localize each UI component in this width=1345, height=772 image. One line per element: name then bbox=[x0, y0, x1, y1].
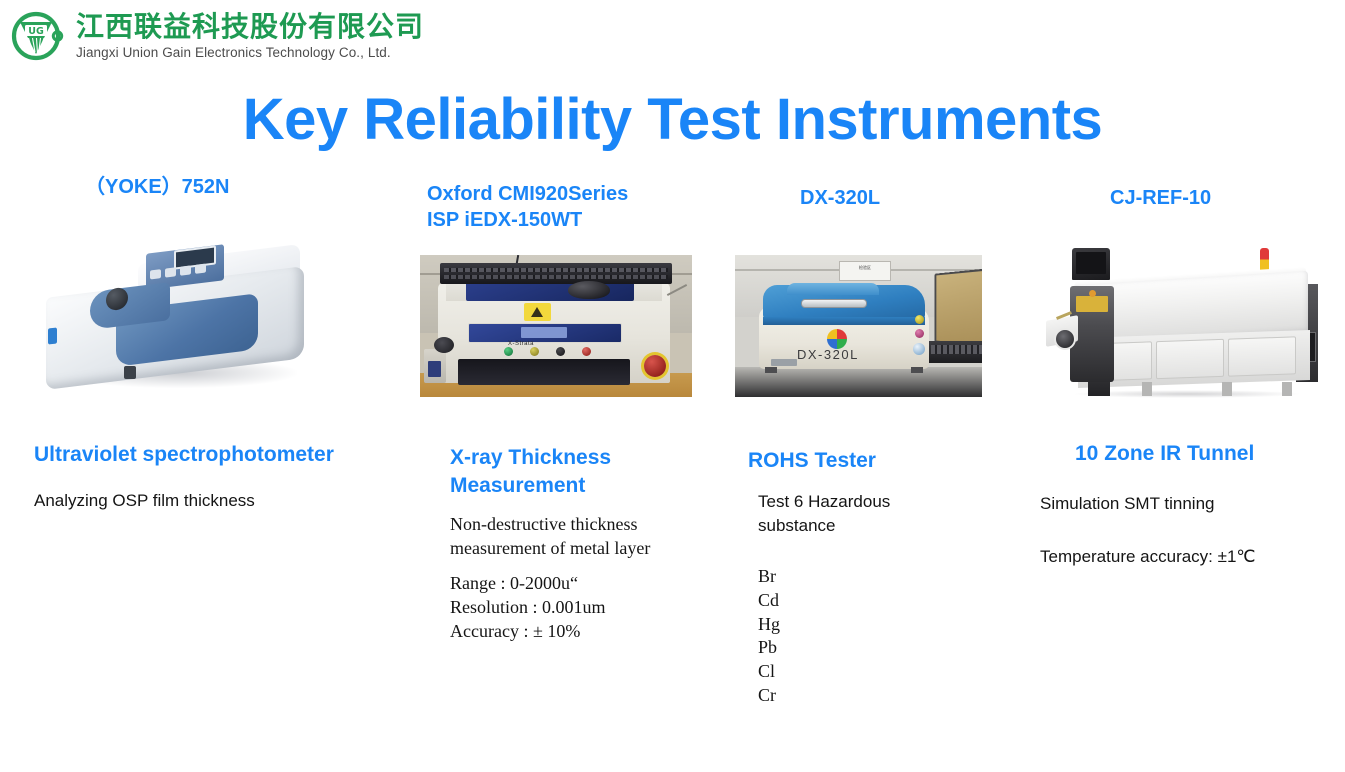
lamp-yellow bbox=[530, 347, 539, 356]
rohs-laptop-screen bbox=[935, 268, 982, 348]
caption-xray: X-ray Thickness Measurement bbox=[450, 444, 611, 499]
model-label-uv: （YOKE）752N bbox=[85, 175, 230, 201]
lamp-red bbox=[582, 347, 591, 356]
model-label-xray: Oxford CMI920Series ISP iEDX-150WT bbox=[427, 182, 628, 233]
body-xray: Non-destructive thickness measurement of… bbox=[450, 512, 700, 561]
rohs-color-logo-icon bbox=[827, 329, 847, 349]
reflow-cabinet-lamp bbox=[1089, 290, 1096, 297]
rohs-foot-left bbox=[765, 367, 777, 373]
rohs-tester-photo: 检验区 DX-320L bbox=[735, 255, 982, 397]
rohs-foot-right bbox=[911, 367, 923, 373]
company-brand: UG 江西联益科技股份有限公司 Jiangxi Union Gain Elect… bbox=[10, 8, 424, 64]
rohs-laptop-base bbox=[927, 341, 982, 363]
xray-mouse bbox=[568, 281, 610, 299]
brand-text: 江西联益科技股份有限公司 Jiangxi Union Gain Electron… bbox=[76, 13, 424, 60]
indicator-amber bbox=[915, 315, 924, 324]
brand-name-cn: 江西联益科技股份有限公司 bbox=[76, 13, 424, 41]
rohs-name-badge bbox=[771, 359, 797, 366]
uv-spectrophotometer-photo bbox=[28, 240, 333, 412]
specs-rohs-substances: Br Cd Hg Pb Cl Cr bbox=[758, 565, 958, 708]
slide-title: Key Reliability Test Instruments bbox=[0, 86, 1345, 153]
lamp-dark bbox=[556, 347, 565, 356]
rohs-power-button bbox=[913, 343, 925, 355]
indicator-pink bbox=[915, 329, 924, 338]
reflow-oven-photo bbox=[1032, 234, 1318, 400]
rohs-model-text: DX-320L bbox=[797, 347, 859, 362]
reflow-handwheel bbox=[1054, 328, 1076, 350]
xray-radiation-warning-label bbox=[524, 303, 551, 321]
rohs-lid-top-panel bbox=[787, 283, 879, 295]
keyboard-row-bottom bbox=[444, 275, 668, 279]
xray-display-readout bbox=[521, 327, 567, 338]
model-label-rohs: DX-320L bbox=[800, 186, 880, 212]
uv-front-foot bbox=[124, 366, 136, 379]
xray-indicator-lamps bbox=[504, 347, 591, 356]
xray-emergency-stop-button bbox=[644, 355, 666, 377]
rohs-lid-handle bbox=[801, 299, 867, 308]
specs-xray: Range : 0-2000u“ Resolution : 0.001um Ac… bbox=[450, 572, 700, 643]
laptop-keyboard bbox=[931, 345, 982, 354]
xray-thickness-machine-photo: X-Strata bbox=[420, 255, 692, 397]
xray-sample-drawer bbox=[458, 359, 630, 385]
body-rohs: Test 6 Hazardous substance bbox=[758, 490, 978, 538]
body-reflow: Simulation SMT tinning Temperature accur… bbox=[1040, 491, 1305, 570]
rohs-wall-sign: 检验区 bbox=[839, 261, 891, 281]
model-label-reflow: CJ-REF-10 bbox=[1110, 186, 1211, 212]
body-uv: Analyzing OSP film thickness bbox=[34, 489, 414, 513]
ug-triangle-logo-icon: UG bbox=[10, 8, 66, 64]
reflow-foot-3 bbox=[1282, 382, 1292, 396]
caption-rohs: ROHS Tester bbox=[748, 447, 876, 475]
uv-side-tab bbox=[48, 327, 57, 344]
rohs-blue-band bbox=[763, 317, 925, 325]
reflow-foot-2 bbox=[1222, 382, 1232, 396]
reflow-monitor-screen bbox=[1076, 252, 1106, 274]
svg-text:UG: UG bbox=[28, 26, 44, 37]
lamp-green bbox=[504, 347, 513, 356]
reflow-access-doors bbox=[1084, 336, 1296, 381]
xray-keyboard bbox=[440, 263, 672, 284]
xray-front-display bbox=[468, 323, 622, 343]
brand-name-en: Jiangxi Union Gain Electronics Technolog… bbox=[76, 46, 424, 60]
rohs-indicator-stack bbox=[915, 315, 924, 338]
xray-left-blue-tag bbox=[428, 361, 441, 377]
xray-left-knob bbox=[434, 337, 454, 353]
reflow-control-panel bbox=[1076, 296, 1108, 312]
keyboard-row-top bbox=[444, 268, 668, 272]
caption-uv: Ultraviolet spectrophotometer bbox=[34, 441, 334, 469]
caption-reflow: 10 Zone IR Tunnel bbox=[1075, 440, 1254, 468]
reflow-foot-1 bbox=[1142, 382, 1152, 396]
